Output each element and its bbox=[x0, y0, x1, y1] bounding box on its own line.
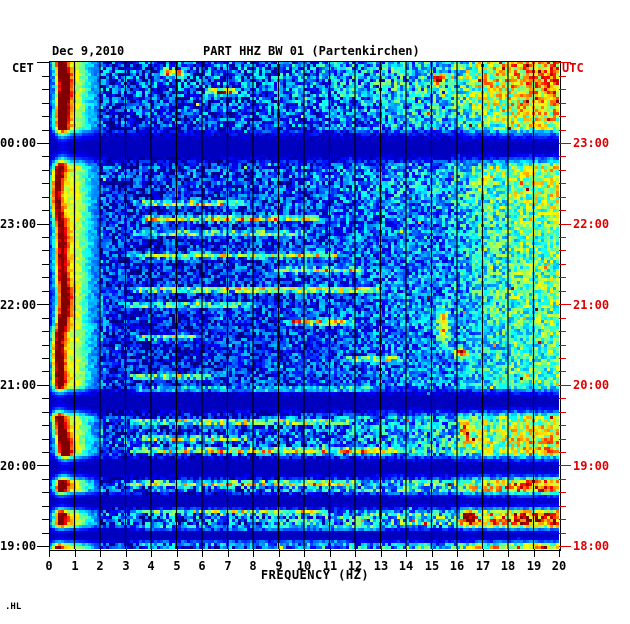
tick-mark-utc bbox=[559, 358, 566, 359]
tick-mark-utc bbox=[559, 318, 566, 319]
tick-mark-utc bbox=[559, 412, 566, 413]
tick-mark-utc bbox=[559, 519, 566, 520]
tick-mark-cet bbox=[42, 210, 49, 211]
tick-mark-utc bbox=[559, 291, 566, 292]
tick-mark-utc bbox=[559, 116, 566, 117]
tick-mark-cet bbox=[37, 385, 49, 386]
utc-time-label: 20:00 bbox=[573, 378, 609, 392]
tick-mark-frequency bbox=[202, 549, 203, 557]
tick-mark-cet bbox=[42, 345, 49, 346]
tick-mark-utc bbox=[559, 425, 566, 426]
tick-mark-cet bbox=[37, 143, 49, 144]
tick-mark-frequency bbox=[381, 549, 382, 557]
tick-mark-cet bbox=[37, 62, 49, 63]
tick-mark-cet bbox=[42, 479, 49, 480]
tick-mark-cet bbox=[42, 103, 49, 104]
tick-mark-frequency bbox=[49, 549, 50, 557]
tick-mark-cet bbox=[42, 398, 49, 399]
tick-mark-cet bbox=[42, 130, 49, 131]
record-date: Dec 9,2010 bbox=[52, 44, 124, 58]
tick-mark-frequency bbox=[177, 549, 178, 557]
tick-mark-utc bbox=[559, 506, 566, 507]
left-axis-name: CET bbox=[12, 61, 34, 75]
tick-mark-cet bbox=[42, 250, 49, 251]
tick-mark-utc bbox=[559, 89, 566, 90]
utc-time-label: 21:00 bbox=[573, 298, 609, 312]
tick-mark-utc bbox=[559, 264, 566, 265]
tick-mark-utc bbox=[559, 224, 571, 225]
tick-mark-utc bbox=[559, 250, 566, 251]
tick-mark-utc bbox=[559, 62, 571, 63]
tick-mark-utc bbox=[559, 183, 566, 184]
tick-mark-frequency bbox=[330, 549, 331, 557]
tick-mark-utc bbox=[559, 143, 571, 144]
tick-mark-utc bbox=[559, 452, 566, 453]
tick-mark-frequency bbox=[279, 549, 280, 557]
tick-mark-utc bbox=[559, 439, 566, 440]
tick-mark-cet bbox=[42, 291, 49, 292]
tick-mark-cet bbox=[42, 371, 49, 372]
tick-mark-frequency bbox=[483, 549, 484, 557]
tick-mark-cet bbox=[42, 116, 49, 117]
tick-mark-cet bbox=[37, 224, 49, 225]
tick-mark-frequency bbox=[432, 549, 433, 557]
tick-mark-utc bbox=[559, 546, 571, 547]
tick-mark-frequency bbox=[253, 549, 254, 557]
tick-mark-cet bbox=[42, 358, 49, 359]
tick-mark-cet bbox=[42, 156, 49, 157]
tick-mark-cet bbox=[42, 412, 49, 413]
tick-mark-frequency bbox=[406, 549, 407, 557]
utc-time-label: 23:00 bbox=[573, 136, 609, 150]
tick-mark-cet bbox=[42, 425, 49, 426]
tick-mark-utc bbox=[559, 385, 571, 386]
tick-mark-utc bbox=[559, 237, 566, 238]
cet-time-label: 00:00 bbox=[0, 136, 34, 150]
tick-mark-cet bbox=[42, 533, 49, 534]
tick-mark-utc bbox=[559, 479, 566, 480]
right-axis-name: UTC bbox=[562, 61, 584, 75]
utc-time-label: 19:00 bbox=[573, 459, 609, 473]
tick-mark-cet bbox=[42, 183, 49, 184]
cet-time-label: 21:00 bbox=[0, 378, 34, 392]
tick-mark-cet bbox=[37, 304, 49, 305]
tick-mark-cet bbox=[42, 439, 49, 440]
x-axis-title: FREQUENCY (HZ) bbox=[0, 568, 630, 582]
tick-mark-frequency bbox=[228, 549, 229, 557]
tick-mark-cet bbox=[42, 519, 49, 520]
tick-mark-cet bbox=[42, 452, 49, 453]
tick-mark-utc bbox=[559, 103, 566, 104]
station-title: PART HHZ BW 01 (Partenkirchen) bbox=[203, 44, 420, 58]
tick-mark-utc bbox=[559, 371, 566, 372]
tick-mark-cet bbox=[42, 76, 49, 77]
tick-mark-utc bbox=[559, 210, 566, 211]
cet-time-label: 22:00 bbox=[0, 298, 34, 312]
tick-mark-utc bbox=[559, 76, 566, 77]
tick-mark-frequency bbox=[100, 549, 101, 557]
tick-mark-cet bbox=[37, 465, 49, 466]
utc-time-label: 22:00 bbox=[573, 217, 609, 231]
cet-time-label: 23:00 bbox=[0, 217, 34, 231]
tick-mark-cet bbox=[42, 331, 49, 332]
tick-mark-utc bbox=[559, 398, 566, 399]
tick-mark-frequency bbox=[534, 549, 535, 557]
tick-mark-utc bbox=[559, 130, 566, 131]
utc-time-label: 18:00 bbox=[573, 539, 609, 553]
tick-mark-cet bbox=[42, 264, 49, 265]
tick-mark-utc bbox=[559, 156, 566, 157]
tick-mark-utc bbox=[559, 304, 571, 305]
spectrogram-plot[interactable] bbox=[49, 61, 559, 549]
cet-time-label: 20:00 bbox=[0, 459, 34, 473]
tick-mark-frequency bbox=[457, 549, 458, 557]
tick-mark-utc bbox=[559, 345, 566, 346]
tick-mark-utc bbox=[559, 170, 566, 171]
cet-time-label: 19:00 bbox=[0, 539, 34, 553]
tick-mark-cet bbox=[42, 277, 49, 278]
tick-mark-cet bbox=[37, 546, 49, 547]
tick-mark-utc bbox=[559, 465, 571, 466]
tick-mark-utc bbox=[559, 533, 566, 534]
tick-mark-cet bbox=[42, 492, 49, 493]
tick-mark-frequency bbox=[126, 549, 127, 557]
tick-mark-cet bbox=[42, 170, 49, 171]
tick-mark-frequency bbox=[508, 549, 509, 557]
tick-mark-cet bbox=[42, 506, 49, 507]
tick-mark-frequency bbox=[75, 549, 76, 557]
tick-mark-frequency bbox=[355, 549, 356, 557]
tick-mark-cet bbox=[42, 89, 49, 90]
tick-mark-frequency bbox=[559, 549, 560, 557]
tick-mark-utc bbox=[559, 197, 566, 198]
tick-mark-cet bbox=[42, 237, 49, 238]
spectrogram-page: Dec 9,2010 PART HHZ BW 01 (Partenkirchen… bbox=[0, 0, 630, 624]
tick-mark-cet bbox=[42, 197, 49, 198]
spectrogram-canvas bbox=[49, 61, 559, 549]
tick-mark-utc bbox=[559, 331, 566, 332]
tick-mark-cet bbox=[42, 318, 49, 319]
corner-mark: .HL bbox=[5, 602, 21, 612]
tick-mark-utc bbox=[559, 492, 566, 493]
tick-mark-frequency bbox=[304, 549, 305, 557]
tick-mark-frequency bbox=[151, 549, 152, 557]
tick-mark-utc bbox=[559, 277, 566, 278]
